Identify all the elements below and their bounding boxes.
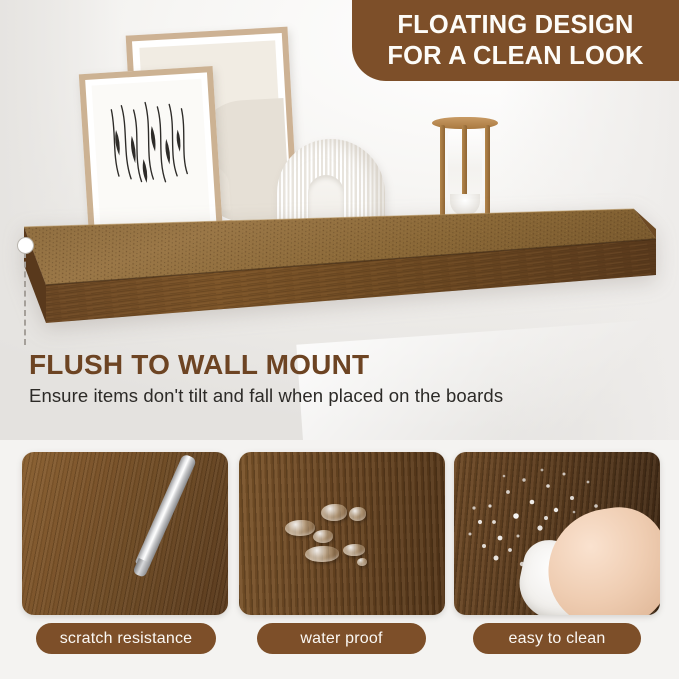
- flush-mount-callout-dot: [17, 237, 34, 254]
- feature-headline: FLUSH TO WALL MOUNT: [29, 349, 369, 381]
- flush-mount-callout-line: [24, 252, 26, 345]
- panel-water-proof: [239, 452, 445, 615]
- panel-easy-to-clean: [454, 452, 660, 615]
- pill-water-proof[interactable]: water proof: [257, 623, 426, 654]
- wood-texture-1: [22, 452, 228, 615]
- water-droplet: [321, 504, 347, 521]
- pill-easy-to-clean[interactable]: easy to clean: [473, 623, 641, 654]
- banner-line-2: FOR A CLEAN LOOK: [387, 41, 643, 72]
- pill-scratch-resistance[interactable]: scratch resistance: [36, 623, 216, 654]
- water-droplet: [349, 507, 366, 521]
- product-infographic: 0 0 0 0 0 0 0: [0, 0, 679, 679]
- feature-subline: Ensure items don't tilt and fall when pl…: [29, 385, 503, 407]
- water-droplet: [343, 544, 365, 556]
- wood-texture-2: [239, 452, 445, 615]
- panel-scratch-resistance: [22, 452, 228, 615]
- abstract-line-artwork: [100, 89, 201, 214]
- water-droplet: [285, 520, 315, 536]
- banner-line-1: FLOATING DESIGN: [397, 10, 633, 41]
- floating-wood-shelf: [22, 207, 656, 342]
- water-droplet: [313, 530, 333, 543]
- water-droplet: [305, 546, 339, 562]
- floating-design-banner: FLOATING DESIGN FOR A CLEAN LOOK: [352, 0, 679, 81]
- water-droplet: [357, 558, 367, 566]
